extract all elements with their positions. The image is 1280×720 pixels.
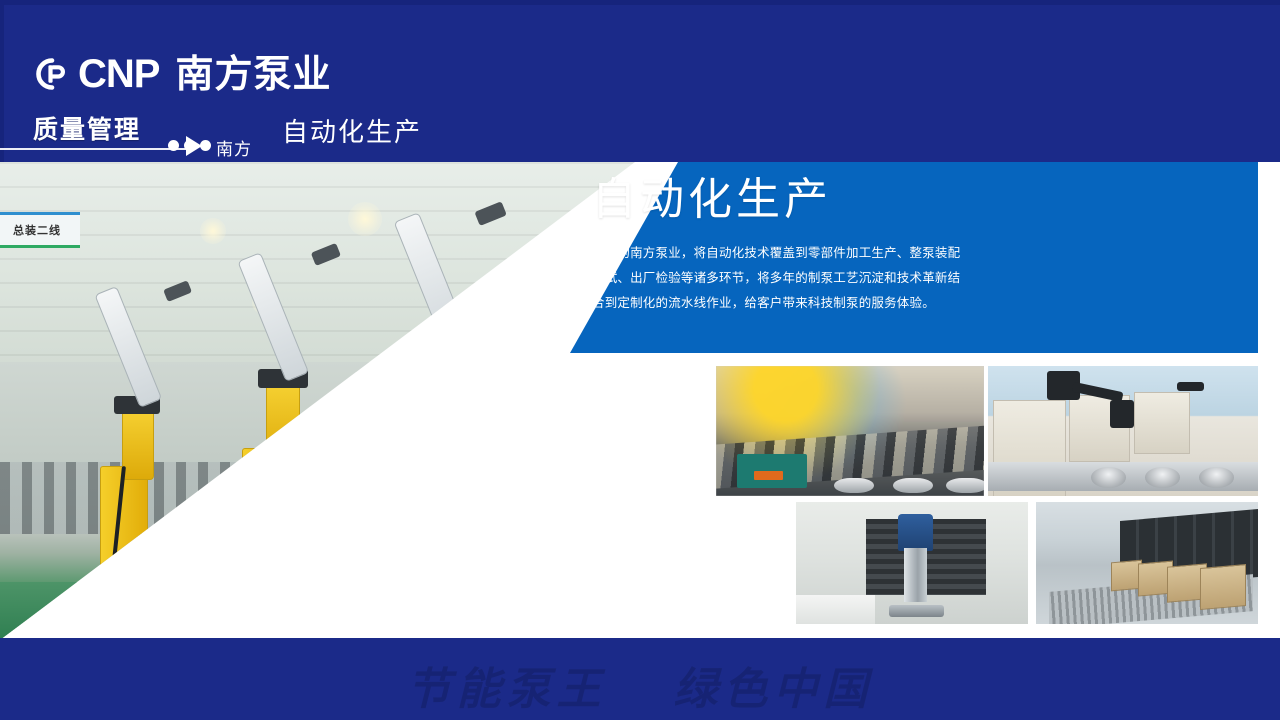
nav-arrow-icon — [186, 136, 202, 156]
nav-breadcrumb-label[interactable]: 南方 — [216, 135, 252, 160]
thumbnail-1[interactable] — [716, 366, 984, 496]
thumbnail-grid — [0, 162, 1280, 640]
brand-logo[interactable]: CNP 南方泵业 — [36, 52, 331, 96]
brand-chinese-text: 南方泵业 — [175, 55, 331, 93]
nav-current-page: 自动化生产 — [282, 112, 422, 149]
footer-slogan-part-1: 节能泵王 — [407, 652, 607, 716]
section-label: 质量管理 — [33, 110, 141, 146]
slide: CNP 南方泵业 质量管理 南方 自动化生产 — [0, 0, 1280, 720]
thumbnail-3[interactable] — [796, 502, 1028, 624]
thumbnail-4[interactable] — [1036, 502, 1258, 624]
nav-rule — [0, 148, 190, 150]
slide-header: CNP 南方泵业 质量管理 南方 自动化生产 — [0, 0, 1280, 162]
slide-footer: 节能泵王 绿色中国 — [0, 638, 1280, 720]
footer-slogan: 节能泵王 绿色中国 — [0, 652, 1280, 716]
brand-latin-text: CNP — [78, 54, 159, 94]
header-top-rule — [0, 0, 1280, 5]
footer-slogan-part-2: 绿色中国 — [673, 652, 873, 716]
slide-body: 总装二线 — [0, 162, 1280, 640]
thumbnail-2[interactable] — [988, 366, 1258, 496]
header-left-rule — [0, 0, 4, 162]
cnp-circle-logo-icon — [36, 58, 68, 90]
